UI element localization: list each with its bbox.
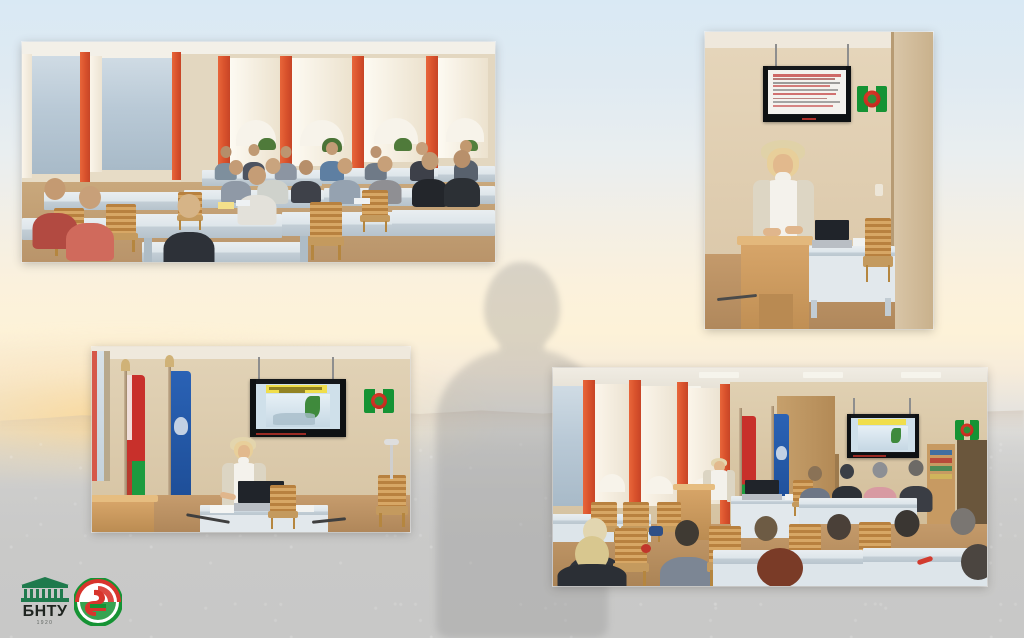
photo-speaker-portrait[interactable] [705,32,933,329]
bntu-abbreviation: БНТУ [12,603,78,620]
collage-canvas: БНТУ 1920 [0,0,1024,638]
belarus-coat-of-arms-icon [364,389,394,413]
photo-room-wide[interactable] [553,368,987,586]
organization-standard-flag [171,371,191,507]
photo-speaker-flags[interactable] [92,347,410,532]
belarus-coat-of-arms-icon [857,86,887,112]
organization-emblem-logo[interactable] [74,578,122,626]
bntu-logo[interactable]: БНТУ 1920 [12,576,78,630]
belarus-coat-of-arms-icon [955,420,979,440]
logo-group: БНТУ 1920 [8,576,134,632]
photo-audience-classroom[interactable] [22,42,495,262]
silhouette-head [484,262,560,348]
classical-portico-icon [20,577,70,603]
bntu-founding-year: 1920 [12,620,78,626]
